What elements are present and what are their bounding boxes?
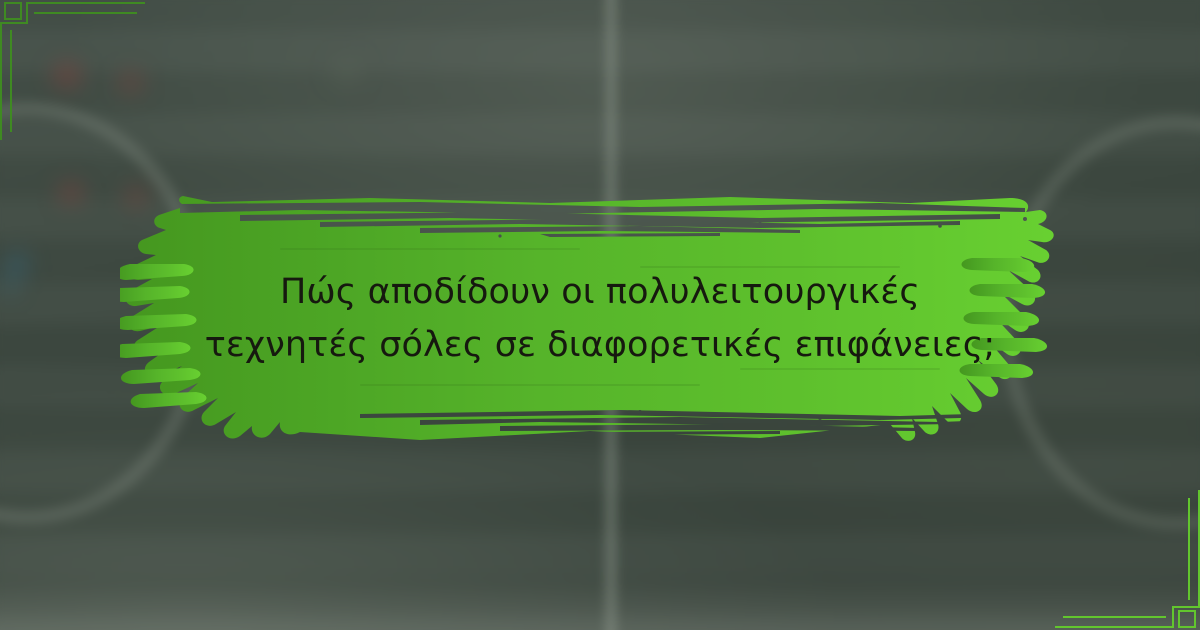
corner-ornament-top-left bbox=[0, 0, 150, 150]
corner-line-horizontal-outer bbox=[26, 2, 145, 4]
corner-line-vertical-outer bbox=[0, 22, 2, 140]
headline-text: Πώς αποδίδουν οι πολυλειτουργικές τεχνητ… bbox=[150, 266, 1050, 372]
corner-line-vertical-inner bbox=[1188, 498, 1190, 600]
social-card: Πώς αποδίδουν οι πολυλειτουργικές τεχνητ… bbox=[0, 0, 1200, 630]
corner-ornament-bottom-right bbox=[1050, 480, 1200, 630]
corner-square-icon bbox=[1178, 610, 1196, 628]
corner-elbow-vertical bbox=[26, 2, 28, 24]
corner-square-icon bbox=[4, 2, 22, 20]
corner-line-horizontal-inner bbox=[34, 12, 137, 14]
corner-elbow-horizontal bbox=[0, 22, 28, 24]
corner-line-vertical-inner bbox=[10, 30, 12, 132]
corner-line-horizontal-outer bbox=[1055, 626, 1174, 628]
corner-elbow-vertical bbox=[1172, 606, 1174, 628]
corner-elbow-horizontal bbox=[1172, 606, 1200, 608]
corner-line-horizontal-inner bbox=[1063, 616, 1166, 618]
